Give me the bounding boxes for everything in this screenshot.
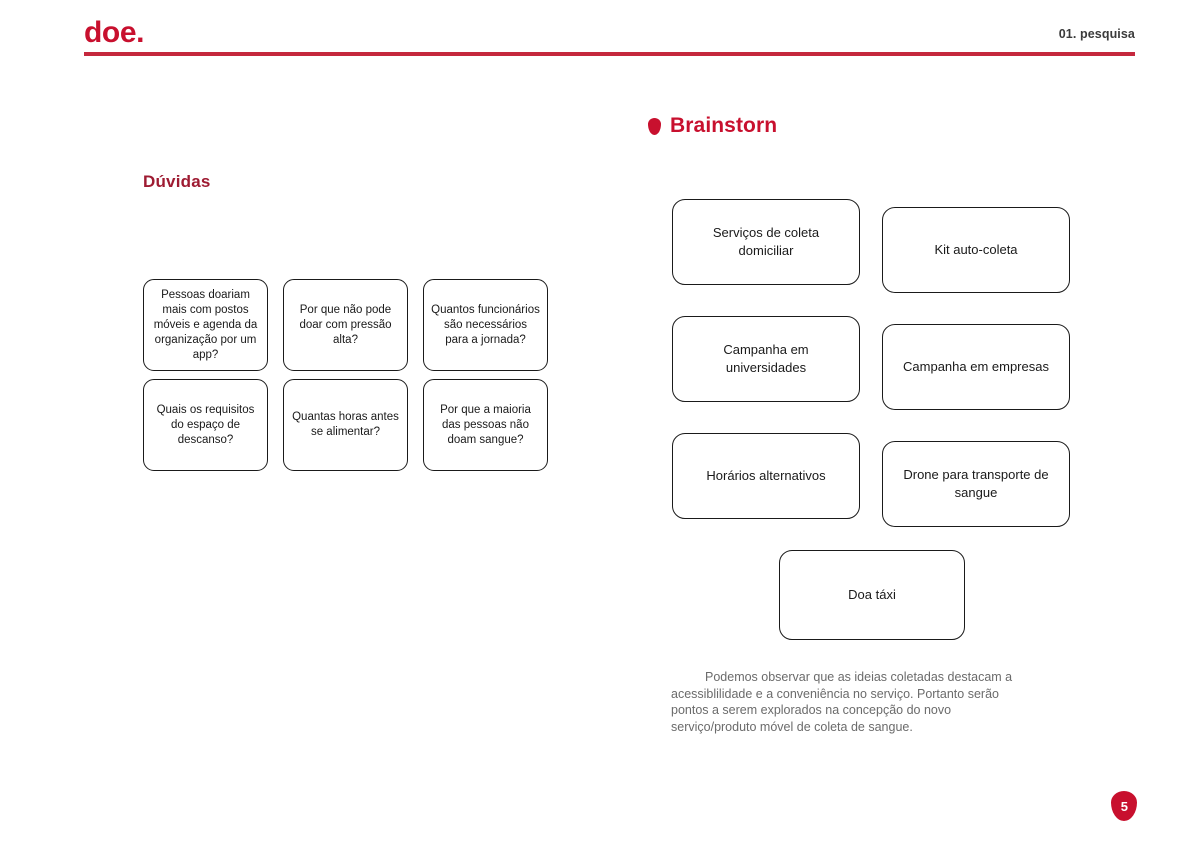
question-card-label: Por que não pode doar com pressão alta?: [291, 303, 400, 348]
duvidas-section-title: Dúvidas: [143, 172, 563, 192]
idea-card-label: Campanha em empresas: [903, 358, 1049, 376]
idea-card-label: Campanha em universidades: [685, 341, 847, 377]
idea-card-label: Drone para transporte de sangue: [895, 466, 1057, 502]
page-number-label: 5: [1120, 800, 1127, 813]
question-card-label: Quais os requisitos do espaço de descans…: [151, 403, 260, 448]
question-card-label: Por que a maioria das pessoas não doam s…: [431, 403, 540, 448]
idea-card-label: Serviços de coleta domiciliar: [685, 224, 847, 260]
page-number-badge: 5: [1111, 791, 1137, 821]
question-card[interactable]: Pessoas doariam mais com postos móveis e…: [143, 279, 268, 371]
idea-card-label: Kit auto-coleta: [934, 241, 1017, 259]
left-column: Dúvidas: [143, 172, 563, 192]
idea-card-label: Doa táxi: [848, 586, 896, 604]
ideas-column-right: Kit auto-coleta Campanha em empresas Dro…: [882, 199, 1070, 558]
idea-card[interactable]: Campanha em empresas: [882, 324, 1070, 410]
questions-grid: Pessoas doariam mais com postos móveis e…: [143, 279, 553, 471]
idea-card[interactable]: Serviços de coleta domiciliar: [672, 199, 860, 285]
question-card[interactable]: Por que não pode doar com pressão alta?: [283, 279, 408, 371]
question-card[interactable]: Por que a maioria das pessoas não doam s…: [423, 379, 548, 471]
brand-logo: doe.: [84, 16, 144, 50]
question-card-label: Pessoas doariam mais com postos móveis e…: [151, 288, 260, 363]
idea-card[interactable]: Campanha em universidades: [672, 316, 860, 402]
question-card[interactable]: Quantos funcionários são necessários par…: [423, 279, 548, 371]
ideas-column-left: Serviços de coleta domiciliar Campanha e…: [672, 199, 860, 558]
idea-card-final[interactable]: Doa táxi: [779, 550, 965, 640]
idea-card-label: Horários alternativos: [706, 467, 825, 485]
header-divider: [84, 52, 1135, 56]
brainstorm-section-title: Brainstorn: [670, 114, 777, 138]
header-section-label: 01. pesquisa: [1059, 27, 1135, 41]
question-card-label: Quantos funcionários são necessários par…: [431, 303, 540, 348]
blood-drop-icon: [648, 118, 661, 135]
idea-card[interactable]: Horários alternativos: [672, 433, 860, 519]
brainstorm-heading: Brainstorn: [648, 114, 777, 138]
question-card[interactable]: Quantas horas antes se alimentar?: [283, 379, 408, 471]
idea-card[interactable]: Kit auto-coleta: [882, 207, 1070, 293]
idea-card[interactable]: Drone para transporte de sangue: [882, 441, 1070, 527]
slide-root: doe. 01. pesquisa Dúvidas Pessoas doaria…: [0, 0, 1191, 842]
ideas-grid: Serviços de coleta domiciliar Campanha e…: [672, 199, 1070, 558]
question-card[interactable]: Quais os requisitos do espaço de descans…: [143, 379, 268, 471]
conclusion-paragraph: Podemos observar que as ideias coletadas…: [671, 669, 1036, 735]
question-card-label: Quantas horas antes se alimentar?: [291, 410, 400, 440]
